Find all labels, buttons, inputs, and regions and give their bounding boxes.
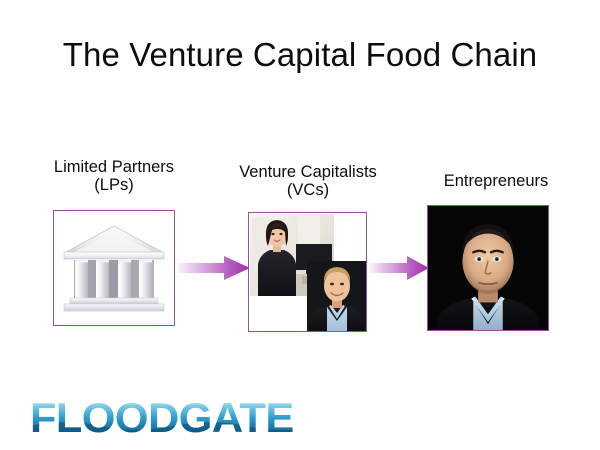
vc-portrait-photo-man	[307, 261, 367, 332]
node-box-limited-partners[interactable]	[53, 210, 175, 326]
node-box-venture-capitalists[interactable]	[248, 212, 367, 332]
node-box-entrepreneurs[interactable]	[427, 205, 549, 331]
floodgate-logo: FLOODGATE FLOODGATE	[30, 396, 315, 442]
node-label-entrepreneurs: Entrepreneurs	[400, 172, 592, 190]
node-label-venture-capitalists: Venture Capitalists (VCs)	[211, 163, 405, 199]
node-label-limited-partners: Limited Partners (LPs)	[18, 158, 210, 194]
right-arrow-icon	[178, 255, 250, 281]
venture-capital-food-chain-diagram: Limited Partners (LPs) Venture Capitalis…	[0, 0, 600, 450]
classical-bank-building-icon	[62, 222, 166, 314]
right-arrow-icon	[369, 255, 429, 281]
entrepreneur-portrait-photo	[428, 206, 548, 330]
